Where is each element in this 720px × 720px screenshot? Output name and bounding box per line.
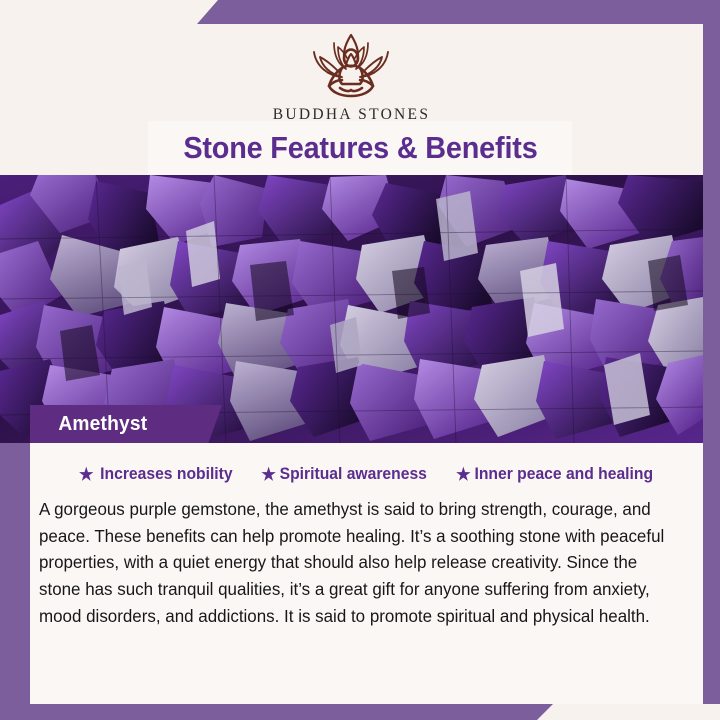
stone-name-label: Amethyst xyxy=(32,413,147,436)
stone-name-bar: Amethyst xyxy=(30,405,222,444)
page-title: Stone Features & Benefits xyxy=(183,130,537,166)
benefit-label: Increases nobility xyxy=(100,465,232,484)
title-plate: Stone Features & Benefits xyxy=(148,121,572,175)
benefit-label: Inner peace and healing xyxy=(474,465,653,484)
amethyst-photo-art xyxy=(0,175,703,443)
benefit-item: ★ Spiritual awareness xyxy=(261,465,427,484)
brand-logo: BUDDHA STONES xyxy=(273,30,431,124)
star-icon: ★ xyxy=(79,466,93,483)
amethyst-crystals-photo xyxy=(0,175,703,443)
benefit-item: ★ Increases nobility xyxy=(79,465,233,484)
stone-description: A gorgeous purple gemstone, the amethyst… xyxy=(39,496,683,629)
content-panel: ★ Increases nobility ★ Spiritual awarene… xyxy=(30,443,703,704)
left-purple-border xyxy=(0,443,30,704)
star-icon: ★ xyxy=(261,466,275,483)
right-purple-border xyxy=(703,0,720,704)
star-icon: ★ xyxy=(456,466,470,483)
top-purple-band xyxy=(197,0,720,24)
benefits-list: ★ Increases nobility ★ Spiritual awarene… xyxy=(36,465,697,484)
stone-info-card: BUDDHA STONES Stone Features & Benefits xyxy=(0,0,720,720)
lotus-meditation-icon xyxy=(276,30,426,102)
benefit-item: ★ Inner peace and healing xyxy=(456,465,653,484)
benefit-label: Spiritual awareness xyxy=(279,465,426,484)
